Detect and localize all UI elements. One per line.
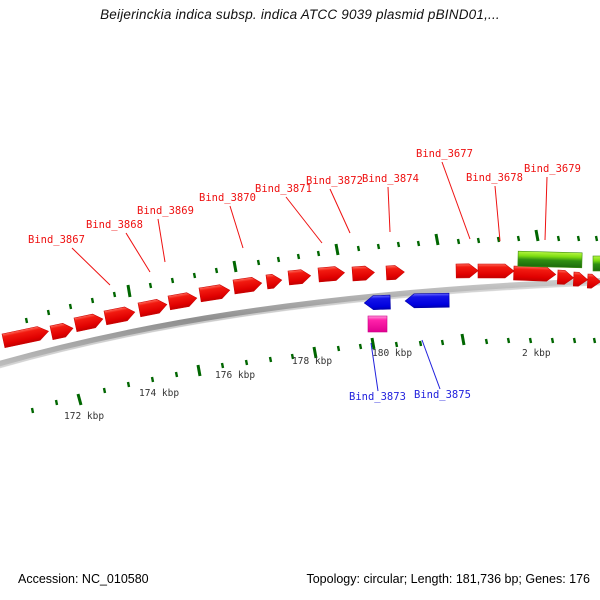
label-bind-3868-leader (126, 233, 150, 272)
gene-arrow-forward[interactable] (266, 273, 283, 289)
special-gene-box[interactable] (518, 251, 582, 268)
page-title: Beijerinckia indica subsp. indica ATCC 9… (0, 7, 600, 22)
label-bind-3871-leader (286, 197, 322, 243)
gene-arrow-forward[interactable] (318, 266, 345, 282)
label-bind-3875[interactable]: Bind_3875 (414, 389, 471, 401)
tick-172: 172 kbp (64, 411, 104, 422)
label-bind-3867-leader (72, 248, 110, 285)
label-bind-3873[interactable]: Bind_3873 (349, 391, 406, 403)
tick-arc-lower (32, 334, 595, 413)
label-bind-3874[interactable]: Bind_3874 (362, 173, 419, 185)
label-bind-3875-leader (422, 340, 440, 389)
label-bind-3874-leader (388, 187, 390, 232)
rna-feature-track[interactable] (368, 316, 387, 332)
label-bind-3870-leader (230, 206, 243, 248)
gene-arrow-reverse[interactable] (405, 293, 449, 308)
gene-arrow-forward[interactable] (168, 291, 198, 310)
label-bind-3679[interactable]: Bind_3679 (524, 163, 581, 175)
accession-label: Accession: NC_010580 (18, 572, 149, 586)
tick-178: 178 kbp (292, 356, 332, 367)
gene-arrow-forward[interactable] (233, 276, 263, 294)
label-bind-3870[interactable]: Bind_3870 (199, 192, 256, 204)
tick-180: 180 kbp (372, 348, 412, 359)
label-bind-3871[interactable]: Bind_3871 (255, 183, 312, 195)
gene-arrow-forward[interactable] (514, 266, 556, 281)
label-bind-3678-leader (495, 186, 500, 241)
gene-arrow-forward[interactable] (478, 264, 514, 278)
label-bind-3869[interactable]: Bind_3869 (137, 205, 194, 217)
genome-summary-label: Topology: circular; Length: 181,736 bp; … (306, 572, 590, 586)
tick-176: 176 kbp (215, 370, 255, 381)
label-bind-3869-leader (158, 219, 165, 262)
rna-feature-box[interactable] (368, 316, 387, 332)
label-bind-3872-leader (330, 189, 350, 233)
gene-labels-forward[interactable]: Bind_3867Bind_3868Bind_3869Bind_3870Bind… (28, 148, 581, 246)
special-gene-box[interactable] (593, 256, 600, 271)
tick-2: 2 kbp (522, 348, 551, 359)
gene-arrow-forward[interactable] (50, 321, 74, 339)
genome-viewer: Beijerinckia indica subsp. indica ATCC 9… (0, 0, 600, 600)
label-bind-3679-leader (545, 177, 547, 240)
gene-arrow-forward[interactable] (352, 265, 375, 281)
gene-arrow-forward[interactable] (456, 264, 478, 278)
label-bind-3872[interactable]: Bind_3872 (306, 175, 363, 187)
gene-arrow-forward[interactable] (74, 312, 104, 332)
gene-arrow-forward[interactable] (2, 324, 50, 347)
gene-arrow-forward[interactable] (199, 283, 231, 302)
genome-map-canvas[interactable]: Bind_3867Bind_3868Bind_3869Bind_3870Bind… (0, 0, 600, 600)
coordinate-tick-labels: 172 kbp174 kbp176 kbp178 kbp180 kbp2 kbp (64, 348, 551, 422)
label-bind-3678[interactable]: Bind_3678 (466, 172, 523, 184)
tick-174: 174 kbp (139, 388, 179, 399)
label-bind-3867[interactable]: Bind_3867 (28, 234, 85, 246)
gene-arrow-forward[interactable] (386, 265, 405, 280)
gene-arrow-forward[interactable] (288, 269, 311, 285)
label-bind-3868[interactable]: Bind_3868 (86, 219, 143, 231)
gene-arrow-forward[interactable] (104, 305, 136, 324)
gene-arrow-forward[interactable] (138, 298, 168, 317)
gene-labels-reverse[interactable]: Bind_3873Bind_3875 (349, 389, 471, 403)
label-bind-3677[interactable]: Bind_3677 (416, 148, 473, 160)
status-bar: Accession: NC_010580 Topology: circular;… (0, 572, 600, 592)
